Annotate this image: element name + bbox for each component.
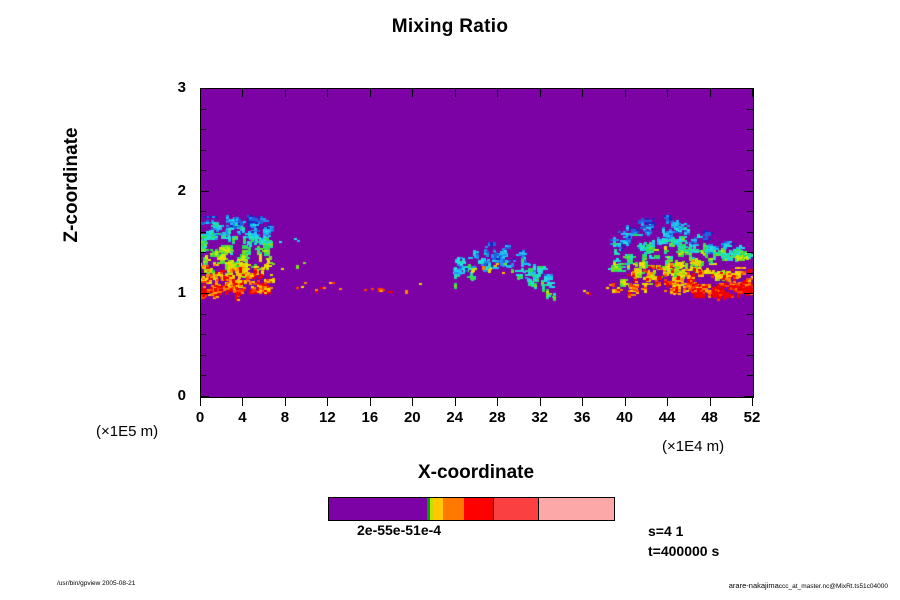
y-axis-major-tick	[200, 396, 209, 397]
colorbar-segment	[443, 498, 464, 520]
x-axis-major-tick-top	[242, 88, 243, 97]
x-axis-unit-label: (×1E4 m)	[662, 438, 724, 455]
y-axis-minor-tick-right	[747, 252, 753, 253]
y-axis-major-tick	[200, 191, 209, 192]
footer-file-label: ccc_at_master.nc@MixRt.ts51c04000	[779, 583, 888, 590]
x-axis-major-tick	[625, 397, 626, 406]
y-axis-minor-tick-right	[747, 211, 753, 212]
x-axis-major-tick-top	[540, 88, 541, 97]
y-axis-minor-tick	[200, 273, 206, 274]
footer-command-label: /usr/bin/gpview 2005-08-21	[57, 580, 135, 587]
y-axis-major-tick-right	[744, 191, 753, 192]
x-axis-tick-label: 20	[392, 409, 432, 426]
y-axis-major-tick-right	[744, 293, 753, 294]
x-axis-major-tick	[242, 397, 243, 406]
x-axis-tick-label: 40	[605, 409, 645, 426]
x-axis-major-tick-top	[370, 88, 371, 97]
y-axis-minor-tick-right	[747, 232, 753, 233]
x-axis-major-tick-top	[455, 88, 456, 97]
y-axis-unit-label: (×1E5 m)	[96, 423, 158, 440]
colorbar-tick-labels: 2e-55e-51e-4	[357, 522, 441, 538]
y-axis-minor-tick-right	[747, 314, 753, 315]
colorbar[interactable]	[328, 497, 615, 521]
x-axis-major-tick	[667, 397, 668, 406]
x-axis-title: X-coordinate	[200, 462, 752, 484]
mixing-ratio-heatmap	[201, 89, 753, 397]
annotation-time: t=400000 s	[648, 541, 719, 561]
y-axis-title: Z-coordinate	[61, 100, 83, 270]
y-axis-tick-label: 0	[146, 387, 186, 404]
x-axis-tick-label: 28	[477, 409, 517, 426]
annotation-block: s=4 1 t=400000 s	[648, 521, 719, 561]
x-axis-major-tick	[540, 397, 541, 406]
x-axis-major-tick	[710, 397, 711, 406]
x-axis-major-tick-top	[582, 88, 583, 97]
y-axis-minor-tick	[200, 375, 206, 376]
y-axis-major-tick	[200, 88, 209, 89]
x-axis-tick-label: 8	[265, 409, 305, 426]
x-axis-major-tick-top	[200, 88, 201, 97]
x-axis-tick-label: 4	[222, 409, 262, 426]
y-axis-minor-tick-right	[747, 375, 753, 376]
y-axis-minor-tick	[200, 314, 206, 315]
x-axis-major-tick-top	[625, 88, 626, 97]
x-axis-tick-label: 24	[435, 409, 475, 426]
y-axis-minor-tick-right	[747, 109, 753, 110]
x-axis-tick-label: 12	[307, 409, 347, 426]
x-axis-tick-label: 36	[562, 409, 602, 426]
x-axis-major-tick-top	[752, 88, 753, 97]
colorbar-segment	[464, 498, 494, 520]
x-axis-tick-label: 44	[647, 409, 687, 426]
y-axis-minor-tick	[200, 211, 206, 212]
x-axis-major-tick	[200, 397, 201, 406]
x-axis-major-tick	[412, 397, 413, 406]
y-axis-minor-tick-right	[747, 129, 753, 130]
footer-source-label: arare-nakajimaccc_at_master.nc@MixRt.ts5…	[729, 581, 888, 590]
annotation-sigma: s=4 1	[648, 521, 719, 541]
x-axis-major-tick	[582, 397, 583, 406]
x-axis-major-tick	[455, 397, 456, 406]
x-axis-major-tick-top	[497, 88, 498, 97]
x-axis-major-tick-top	[285, 88, 286, 97]
colorbar-segment	[433, 498, 443, 520]
x-axis-tick-label: 48	[690, 409, 730, 426]
y-axis-minor-tick	[200, 170, 206, 171]
x-axis-tick-label: 32	[520, 409, 560, 426]
y-axis-minor-tick-right	[747, 150, 753, 151]
x-axis-major-tick-top	[327, 88, 328, 97]
y-axis-minor-tick	[200, 150, 206, 151]
x-axis-major-tick-top	[710, 88, 711, 97]
x-axis-major-tick	[285, 397, 286, 406]
y-axis-tick-label: 3	[146, 79, 186, 96]
y-axis-tick-label: 2	[146, 182, 186, 199]
y-axis-minor-tick	[200, 109, 206, 110]
plot-area	[200, 88, 754, 398]
x-axis-major-tick-top	[667, 88, 668, 97]
y-axis-tick-label: 1	[146, 284, 186, 301]
x-axis-major-tick	[497, 397, 498, 406]
footer-user-label: arare-nakajima	[729, 581, 779, 590]
page-title: Mixing Ratio	[0, 16, 900, 38]
colorbar-segment	[329, 498, 427, 520]
x-axis-major-tick	[752, 397, 753, 406]
x-axis-major-tick-top	[412, 88, 413, 97]
y-axis-minor-tick-right	[747, 334, 753, 335]
x-axis-tick-label: 0	[180, 409, 220, 426]
x-axis-tick-label: 16	[350, 409, 390, 426]
x-axis-tick-label: 52	[732, 409, 772, 426]
y-axis-minor-tick	[200, 129, 206, 130]
colorbar-segment	[494, 498, 539, 520]
y-axis-minor-tick	[200, 355, 206, 356]
y-axis-major-tick	[200, 293, 209, 294]
y-axis-minor-tick-right	[747, 355, 753, 356]
colorbar-segment	[539, 498, 614, 520]
x-axis-major-tick	[327, 397, 328, 406]
y-axis-minor-tick	[200, 232, 206, 233]
y-axis-minor-tick-right	[747, 273, 753, 274]
x-axis-major-tick	[370, 397, 371, 406]
y-axis-minor-tick	[200, 334, 206, 335]
y-axis-minor-tick-right	[747, 170, 753, 171]
y-axis-minor-tick	[200, 252, 206, 253]
